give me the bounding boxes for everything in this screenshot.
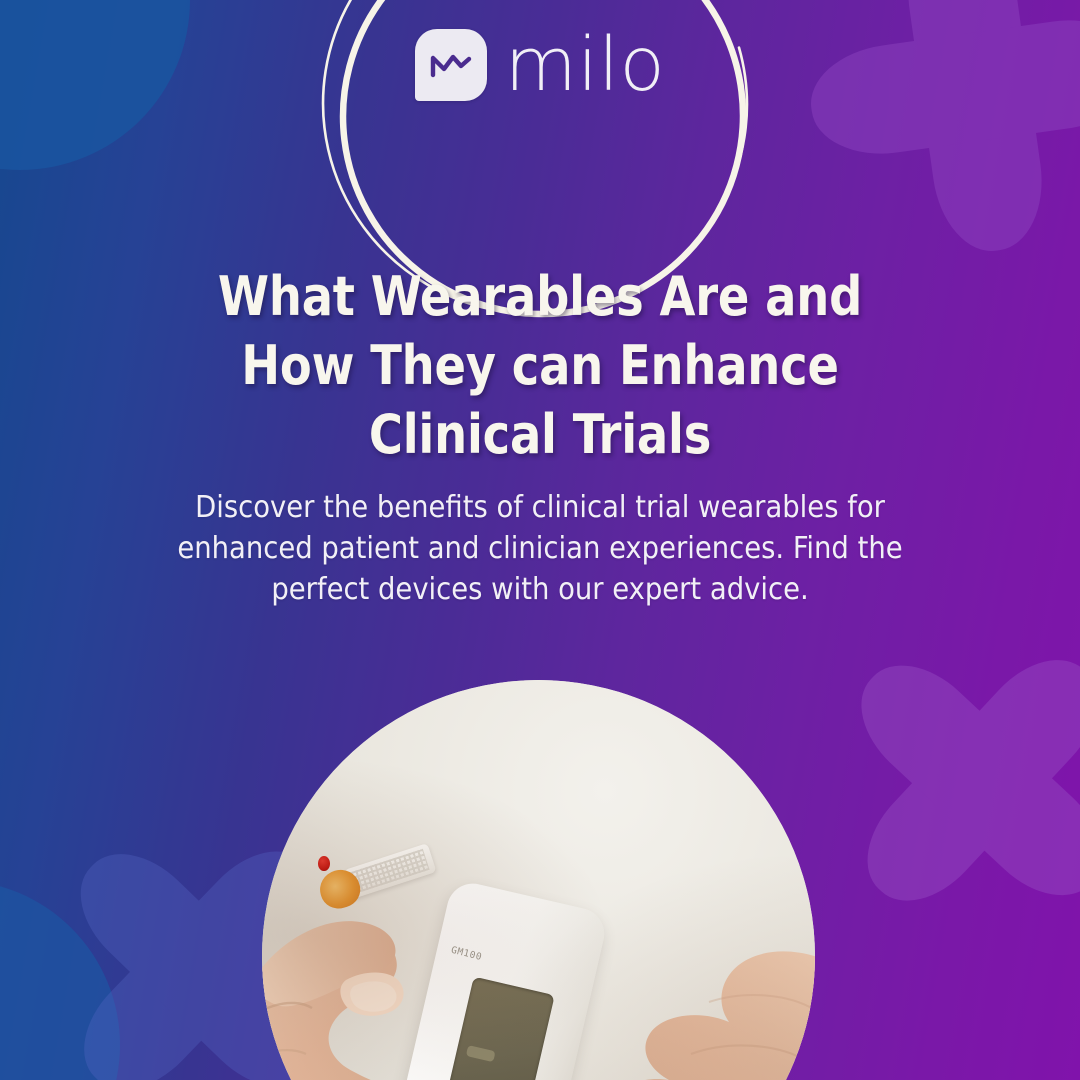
logo-lockup[interactable]: milo xyxy=(0,28,1080,102)
zigzag-heartbeat-icon xyxy=(429,50,473,80)
left-hand-shape xyxy=(262,830,518,1080)
rounded-cross-icon-mid-right xyxy=(770,568,1080,992)
page-subtitle: Discover the benefits of clinical trial … xyxy=(0,487,1080,610)
right-hand-shape xyxy=(547,932,815,1080)
hero-photo-circle: GM100 xyxy=(262,680,815,1080)
brand-wordmark: milo xyxy=(505,28,665,102)
headline-line-2: How They can Enhance xyxy=(241,334,839,397)
headline-line-1: What Wearables Are and xyxy=(218,265,862,328)
logo-zone: milo xyxy=(0,0,1080,250)
social-media-poster: milo What Wearables Are and How They can… xyxy=(0,0,1080,1080)
milo-zigzag-mark-icon xyxy=(415,29,487,101)
blob-bottom-left xyxy=(0,880,120,1080)
hero-photo: GM100 xyxy=(262,680,815,1080)
right-hand xyxy=(547,932,815,1080)
left-hand xyxy=(262,830,518,1080)
headline-line-3: Clinical Trials xyxy=(369,403,711,466)
page-title: What Wearables Are and How They can Enha… xyxy=(24,262,1055,469)
